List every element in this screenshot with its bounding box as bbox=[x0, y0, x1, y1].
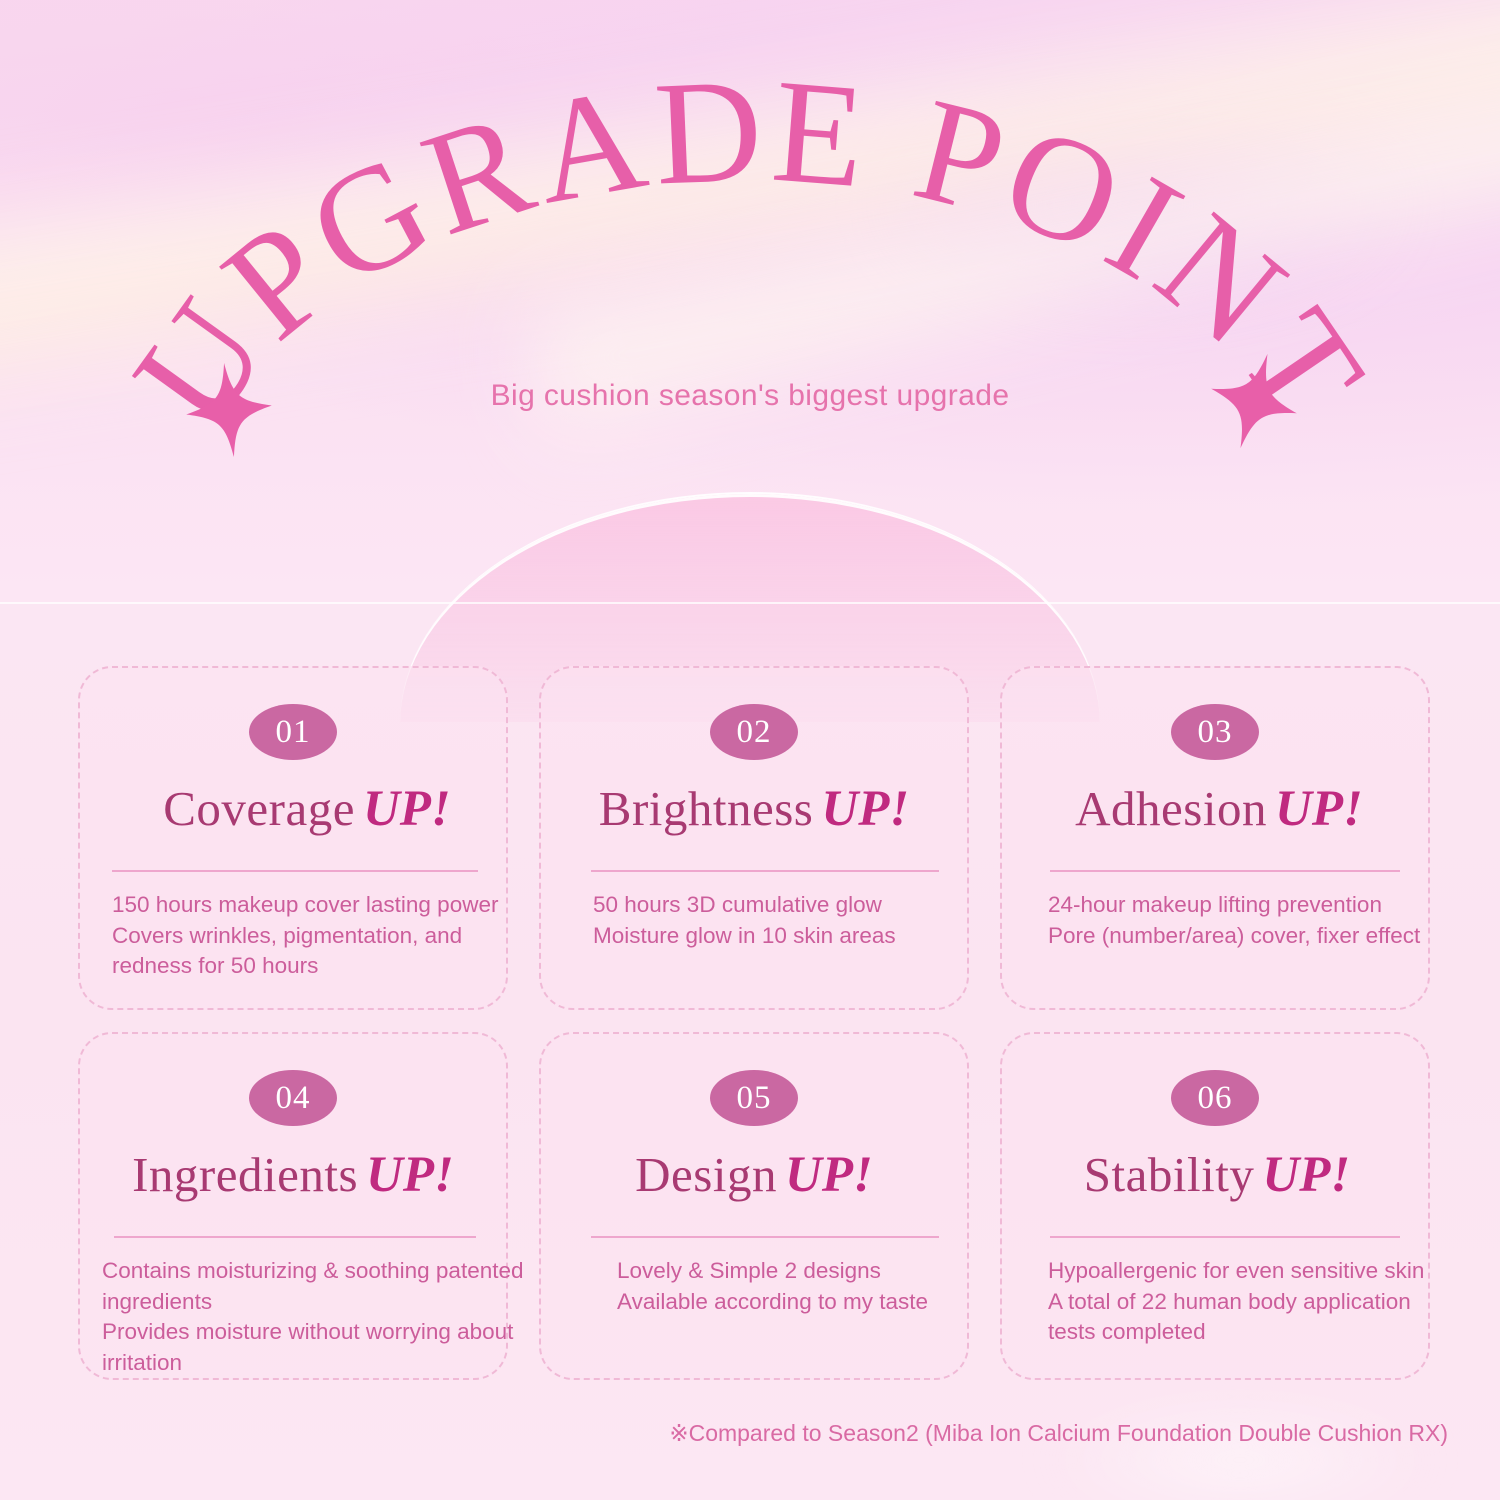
card-title-up: UP! bbox=[1262, 1147, 1350, 1203]
card-title-word: Design bbox=[635, 1147, 777, 1202]
card-title: DesignUP! bbox=[541, 1146, 977, 1204]
card-divider bbox=[591, 1236, 939, 1238]
upgrade-point-infographic: UPGRADE POINT Big cushion season's bigge… bbox=[0, 0, 1500, 1500]
card-number: 02 bbox=[737, 716, 772, 749]
card-number-badge: 01 bbox=[249, 704, 337, 760]
card-description: 150 hours makeup cover lasting power Cov… bbox=[112, 890, 532, 982]
header: UPGRADE POINT Big cushion season's bigge… bbox=[0, 0, 1500, 604]
card-title-up: UP! bbox=[821, 781, 909, 837]
card-title-up: UP! bbox=[785, 1147, 873, 1203]
card-number: 03 bbox=[1198, 716, 1233, 749]
card-title-word: Brightness bbox=[599, 781, 814, 836]
card-description: 50 hours 3D cumulative glow Moisture glo… bbox=[593, 890, 1013, 951]
card-title: AdhesionUP! bbox=[1002, 780, 1432, 838]
card-number: 01 bbox=[276, 716, 311, 749]
upgrade-points-grid: 01 CoverageUP! 150 hours makeup cover la… bbox=[78, 666, 1430, 1380]
card-number-badge: 03 bbox=[1171, 704, 1259, 760]
upgrade-card-05: 05 DesignUP! Lovely & Simple 2 designs A… bbox=[539, 1032, 969, 1380]
card-number: 05 bbox=[737, 1082, 772, 1115]
upgrade-card-04: 04 IngredientsUP! Contains moisturizing … bbox=[78, 1032, 508, 1380]
card-description: Contains moisturizing & soothing patente… bbox=[102, 1256, 554, 1378]
upgrade-card-06: 06 StabilityUP! Hypoallergenic for even … bbox=[1000, 1032, 1430, 1380]
card-title: BrightnessUP! bbox=[541, 780, 991, 838]
card-title-word: Coverage bbox=[163, 781, 355, 836]
card-number: 06 bbox=[1198, 1082, 1233, 1115]
card-number: 04 bbox=[276, 1082, 311, 1115]
footnote: ※Compared to Season2 (Miba Ion Calcium F… bbox=[669, 1420, 1448, 1447]
card-title-up: UP! bbox=[366, 1147, 454, 1203]
card-title: IngredientsUP! bbox=[80, 1146, 550, 1204]
card-description: Hypoallergenic for even sensitive skin A… bbox=[1048, 1256, 1448, 1348]
card-title: StabilityUP! bbox=[1002, 1146, 1430, 1204]
card-description: 24-hour makeup lifting prevention Pore (… bbox=[1048, 890, 1468, 951]
card-number-badge: 04 bbox=[249, 1070, 337, 1126]
card-description: Lovely & Simple 2 designs Available acco… bbox=[617, 1256, 1037, 1317]
card-divider bbox=[1050, 870, 1400, 872]
upgrade-card-03: 03 AdhesionUP! 24-hour makeup lifting pr… bbox=[1000, 666, 1430, 1010]
card-title: CoverageUP! bbox=[80, 780, 520, 838]
card-title-up: UP! bbox=[363, 781, 451, 837]
card-title-word: Ingredients bbox=[132, 1147, 358, 1202]
card-divider bbox=[112, 870, 478, 872]
card-title-word: Adhesion bbox=[1075, 781, 1267, 836]
card-number-badge: 05 bbox=[710, 1070, 798, 1126]
card-title-word: Stability bbox=[1084, 1147, 1255, 1202]
upgrade-card-02: 02 BrightnessUP! 50 hours 3D cumulative … bbox=[539, 666, 969, 1010]
card-number-badge: 02 bbox=[710, 704, 798, 760]
card-divider bbox=[114, 1236, 476, 1238]
card-number-badge: 06 bbox=[1171, 1070, 1259, 1126]
card-divider bbox=[591, 870, 939, 872]
card-title-up: UP! bbox=[1275, 781, 1363, 837]
page-subtitle: Big cushion season's biggest upgrade bbox=[0, 379, 1500, 413]
upgrade-card-01: 01 CoverageUP! 150 hours makeup cover la… bbox=[78, 666, 508, 1010]
card-divider bbox=[1050, 1236, 1400, 1238]
